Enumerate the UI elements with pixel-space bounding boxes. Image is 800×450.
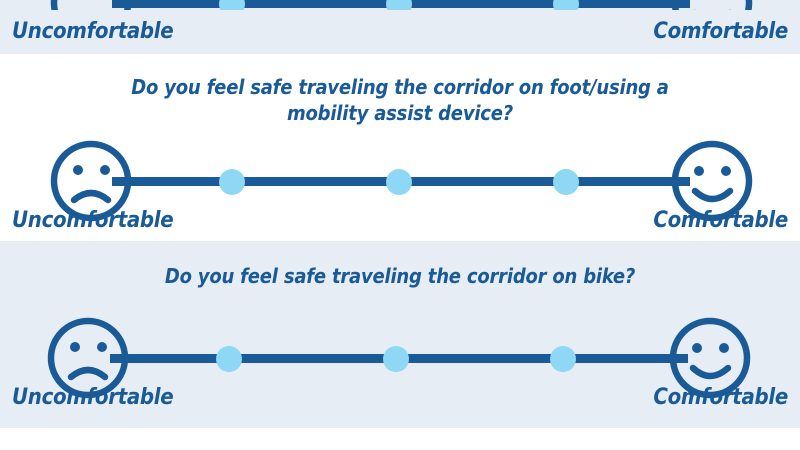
survey-panel-bike: Do you feel safe traveling the corridor … [0,241,800,428]
scale-dot-icon[interactable] [550,346,576,372]
scale-dot-icon[interactable] [386,0,412,10]
survey-panel-foot: Do you feel safe traveling the corridor … [0,54,800,241]
scale-label-uncomfortable: Uncomfortable [12,209,173,233]
scale-dot-icon[interactable] [219,169,245,195]
scale-dot-icon[interactable] [386,169,412,195]
scale-dot-icon[interactable] [383,346,409,372]
scale-dot-icon[interactable] [219,0,245,10]
survey-panel-foot-clipped: Uncomfortable Comfortable [0,0,800,54]
question-text-foot: Do you feel safe traveling the corridor … [0,74,800,126]
question-text-bike: Do you feel safe traveling the corridor … [0,263,800,289]
scale-label-comfortable: Comfortable [653,386,788,410]
scale-label-comfortable: Comfortable [653,209,788,233]
survey-scales-graphic: Uncomfortable Comfortable Do you feel sa… [0,0,800,450]
scale-dot-icon[interactable] [553,0,579,10]
scale-dot-icon[interactable] [216,346,242,372]
bottom-margin [0,428,800,450]
comfort-scale-1[interactable] [0,0,800,10]
scale-label-uncomfortable: Uncomfortable [12,20,173,44]
scale-dot-icon[interactable] [553,169,579,195]
scale-label-comfortable: Comfortable [653,20,788,44]
scale-label-uncomfortable: Uncomfortable [12,386,173,410]
